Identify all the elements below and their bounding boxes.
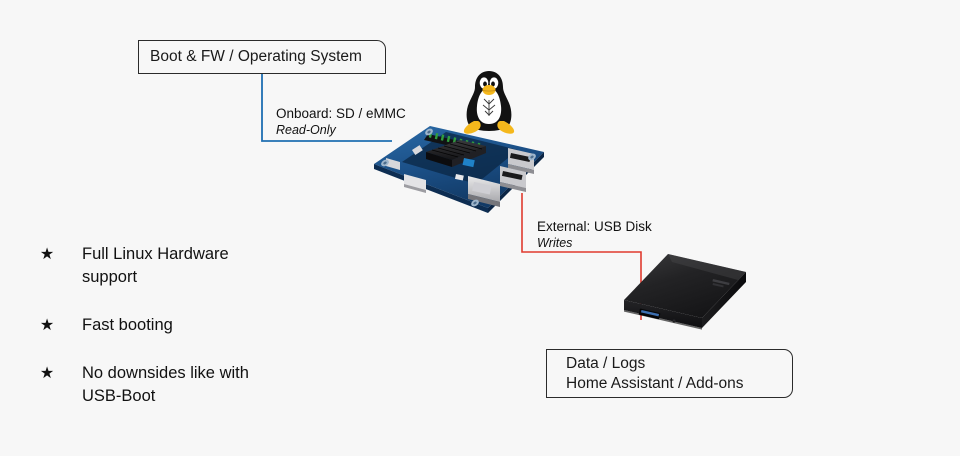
boot-firmware-callout[interactable]: Boot & FW / Operating System — [138, 40, 386, 74]
linux-tux-penguin-icon — [458, 66, 520, 136]
data-logs-callout[interactable]: Data / Logs Home Assistant / Add-ons — [546, 349, 793, 398]
list-item: ★ Full Linux Hardware support — [36, 243, 326, 289]
star-icon: ★ — [36, 362, 58, 385]
slide-canvas: Boot & FW / Operating System Onboard: SD… — [0, 0, 960, 456]
list-item-label: No downsides like with USB-Boot — [82, 362, 249, 408]
boot-firmware-label: Boot & FW / Operating System — [150, 47, 374, 67]
external-usb-hard-drive-image — [614, 248, 756, 340]
star-icon: ★ — [36, 243, 58, 266]
external-storage-label: External: USB Disk Writes — [537, 218, 652, 251]
list-item: ★ Fast booting — [36, 314, 326, 337]
data-logs-line-2: Home Assistant / Add-ons — [566, 374, 773, 394]
star-icon: ★ — [36, 314, 58, 337]
data-logs-line-1: Data / Logs — [566, 354, 773, 374]
list-item: ★ No downsides like with USB-Boot — [36, 362, 326, 408]
list-item-label: Fast booting — [82, 314, 173, 337]
list-item-label: Full Linux Hardware support — [82, 243, 229, 289]
benefits-list: ★ Full Linux Hardware support ★ Fast boo… — [36, 243, 326, 408]
external-storage-primary-text: External: USB Disk — [537, 218, 652, 235]
